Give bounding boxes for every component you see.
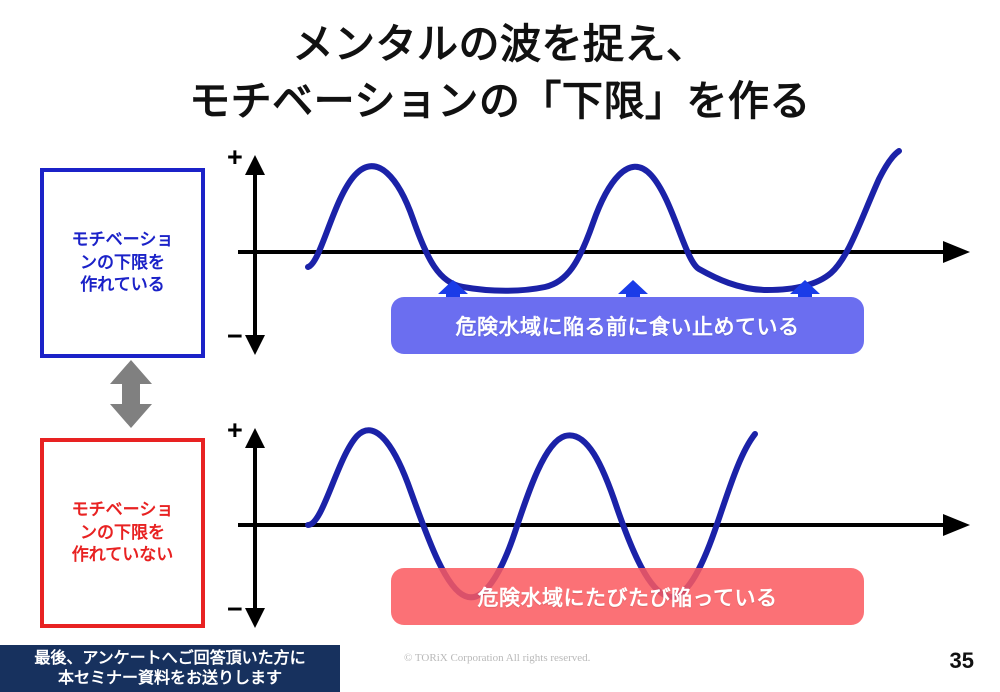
banner-danger-entered: 危険水域にたびたび陥っている xyxy=(391,568,864,625)
axis-minus-label-bottom: − xyxy=(227,596,243,623)
horizontal-axis xyxy=(238,241,970,263)
footer-survey-note-label: 最後、アンケートへご回答頂いた方に 本セミナー資料をお送りします xyxy=(34,649,305,689)
axis-plus-label-top: + xyxy=(227,144,243,171)
page-title: メンタルの波を捉え、 モチベーションの「下限」を作る xyxy=(0,16,1000,129)
footer-survey-note: 最後、アンケートへご回答頂いた方に 本セミナー資料をお送りします xyxy=(0,645,340,692)
legend-box-with-floor: モチベーショ ンの下限を 作れている xyxy=(40,168,205,358)
legend-box-without-floor: モチベーショ ンの下限を 作れていない xyxy=(40,438,205,628)
vertical-axis xyxy=(245,428,265,628)
banner-danger-avoided: 危険水域に陥る前に食い止めている xyxy=(391,297,864,354)
banner-danger-entered-label: 危険水域にたびたび陥っている xyxy=(478,582,778,612)
vertical-double-arrow-icon xyxy=(100,358,162,430)
banner-danger-avoided-label: 危険水域に陥る前に食い止めている xyxy=(456,311,800,341)
axis-minus-label-top: − xyxy=(227,323,243,350)
legend-box-without-floor-label: モチベーショ ンの下限を 作れていない xyxy=(72,499,174,568)
horizontal-axis xyxy=(238,514,970,536)
axis-plus-label-bottom: + xyxy=(227,417,243,444)
copyright-text: © TORiX Corporation All rights reserved. xyxy=(404,652,590,664)
legend-box-with-floor-label: モチベーショ ンの下限を 作れている xyxy=(72,229,174,298)
wave-with-floor xyxy=(308,151,899,291)
slide-canvas: メンタルの波を捉え、 モチベーションの「下限」を作る モチベーショ ンの下限を … xyxy=(0,0,1000,692)
page-number: 35 xyxy=(950,648,974,674)
vertical-axis xyxy=(245,155,265,355)
